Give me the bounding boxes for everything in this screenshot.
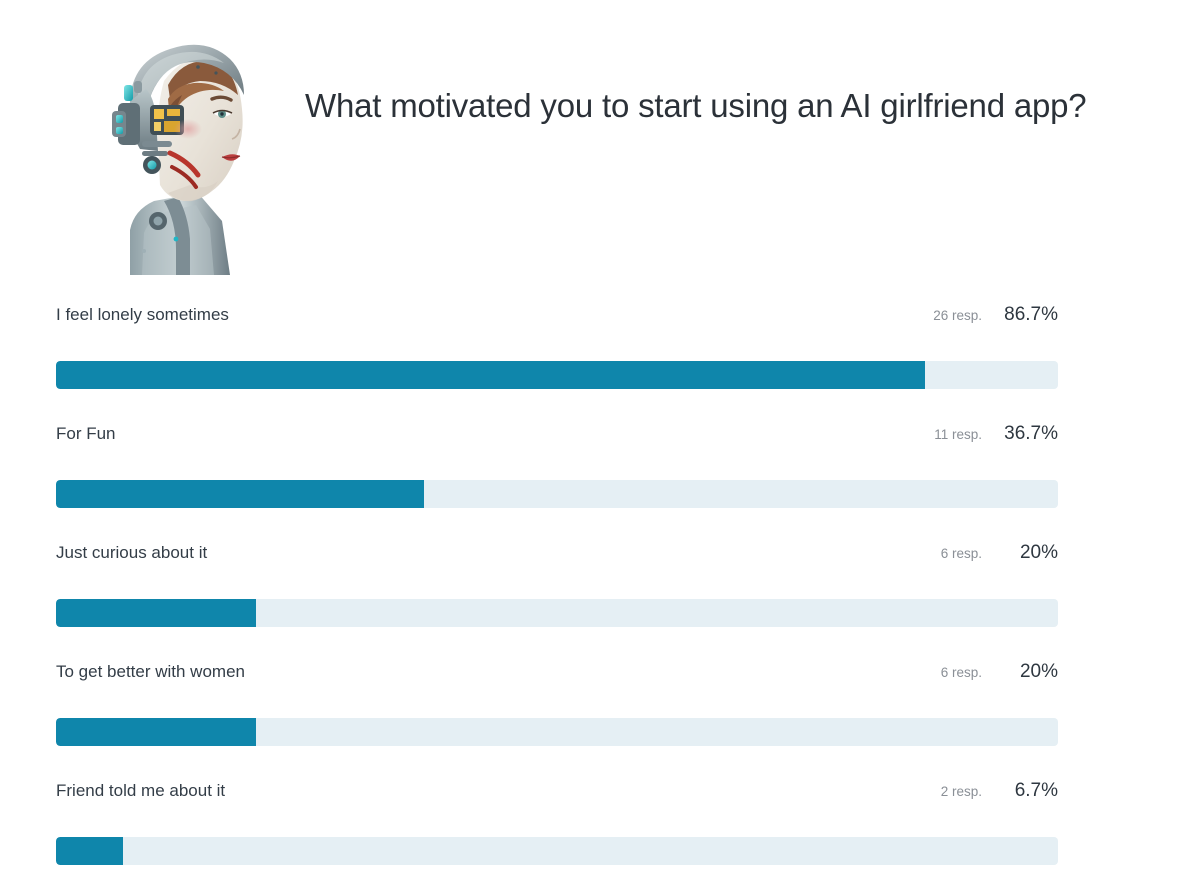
result-row-header: To get better with women 6 resp. 20% <box>0 657 1191 687</box>
bar-fill <box>56 599 256 627</box>
result-row: For Fun 11 resp. 36.7% <box>0 419 1191 538</box>
response-count: 6 resp. <box>941 539 982 569</box>
bar-fill <box>56 837 123 865</box>
row-stats: 6 resp. 20% <box>941 657 1058 687</box>
option-label: Friend told me about it <box>56 776 1057 806</box>
row-stats: 26 resp. 86.7% <box>933 300 1058 330</box>
option-label: Just curious about it <box>56 538 1057 568</box>
row-stats: 2 resp. 6.7% <box>941 776 1058 806</box>
result-row-header: Friend told me about it 2 resp. 6.7% <box>0 776 1191 806</box>
survey-header: What motivated you to start using an AI … <box>0 0 1191 275</box>
percent-value: 20% <box>996 657 1058 687</box>
response-count: 26 resp. <box>933 301 982 331</box>
bar-track <box>56 480 1058 508</box>
bar-track <box>56 718 1058 746</box>
percent-value: 20% <box>996 538 1058 568</box>
bar-fill <box>56 718 256 746</box>
bar-track <box>56 599 1058 627</box>
percent-value: 6.7% <box>996 776 1058 806</box>
row-stats: 6 resp. 20% <box>941 538 1058 568</box>
bar-fill <box>56 361 925 389</box>
result-row: Friend told me about it 2 resp. 6.7% <box>0 776 1191 895</box>
result-row-header: For Fun 11 resp. 36.7% <box>0 419 1191 449</box>
bar-track <box>56 837 1058 865</box>
result-row: I feel lonely sometimes 26 resp. 86.7% <box>0 300 1191 419</box>
row-stats: 11 resp. 36.7% <box>934 419 1058 449</box>
bar-fill <box>56 480 424 508</box>
response-count: 6 resp. <box>941 658 982 688</box>
title-block: What motivated you to start using an AI … <box>305 85 1171 156</box>
result-row: Just curious about it 6 resp. 20% <box>0 538 1191 657</box>
bar-track <box>56 361 1058 389</box>
option-label: I feel lonely sometimes <box>56 300 1057 330</box>
option-label: For Fun <box>56 419 1057 449</box>
page-title: What motivated you to start using an AI … <box>305 85 1171 126</box>
percent-value: 86.7% <box>996 300 1058 330</box>
page-subtitle <box>305 140 1171 156</box>
result-row-header: Just curious about it 6 resp. 20% <box>0 538 1191 568</box>
result-row-header: I feel lonely sometimes 26 resp. 86.7% <box>0 300 1191 330</box>
ai-android-woman-portrait-icon <box>72 25 252 275</box>
results-list: I feel lonely sometimes 26 resp. 86.7% F… <box>0 300 1191 895</box>
result-row: To get better with women 6 resp. 20% <box>0 657 1191 776</box>
avatar <box>72 25 252 275</box>
response-count: 2 resp. <box>941 777 982 807</box>
percent-value: 36.7% <box>996 419 1058 449</box>
option-label: To get better with women <box>56 657 1057 687</box>
response-count: 11 resp. <box>934 420 982 450</box>
